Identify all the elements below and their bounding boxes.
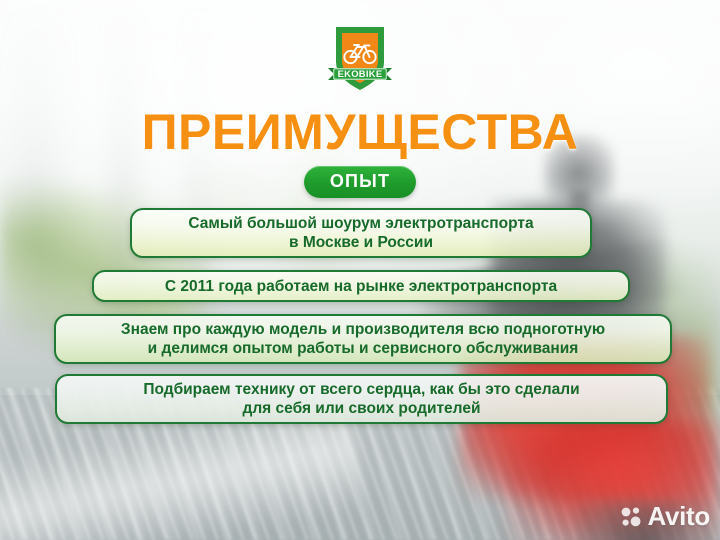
- badge-container: ОПЫТ: [0, 166, 720, 198]
- ekobike-shield-logo: EKOBIKE: [320, 24, 400, 94]
- logo-ribbon-text: EKOBIKE: [338, 68, 383, 79]
- banner-content: EKOBIKE ПРЕИМУЩЕСТВА ОПЫТ Самый большой …: [0, 0, 720, 540]
- feature-item-expertise: Знаем про каждую модель и производителя …: [54, 314, 672, 364]
- feature-line: С 2011 года работаем на рынке электротра…: [165, 278, 557, 295]
- feature-line: и делимся опытом работы и сервисного обс…: [148, 340, 579, 357]
- avito-wordmark: Avito: [647, 501, 710, 532]
- feature-line: для себя или своих родителей: [243, 400, 481, 417]
- status-badge: ОПЫТ: [304, 166, 416, 198]
- page-title: ПРЕИМУЩЕСТВА: [0, 104, 720, 160]
- feature-line: в Москве и России: [289, 234, 433, 251]
- feature-item-heartfelt-selection: Подбираем технику от всего сердца, как б…: [55, 374, 668, 424]
- avito-watermark: Avito: [621, 501, 710, 532]
- feature-text: Подбираем технику от всего сердца, как б…: [143, 380, 579, 418]
- logo-svg: EKOBIKE: [320, 24, 400, 94]
- feature-line: Самый большой шоурум электротранспорта: [188, 215, 533, 232]
- promo-banner: EKOBIKE ПРЕИМУЩЕСТВА ОПЫТ Самый большой …: [0, 0, 720, 540]
- feature-line: Знаем про каждую модель и производителя …: [121, 321, 605, 338]
- feature-item-showroom: Самый большой шоурум электротранспорта в…: [130, 208, 592, 258]
- feature-line: Подбираем технику от всего сердца, как б…: [143, 381, 579, 398]
- avito-dots-logo: [621, 506, 643, 528]
- feature-text: Знаем про каждую модель и производителя …: [121, 320, 605, 358]
- feature-text: Самый большой шоурум электротранспорта в…: [188, 214, 533, 252]
- feature-item-since-2011: С 2011 года работаем на рынке электротра…: [92, 270, 630, 302]
- feature-text: С 2011 года работаем на рынке электротра…: [165, 277, 557, 296]
